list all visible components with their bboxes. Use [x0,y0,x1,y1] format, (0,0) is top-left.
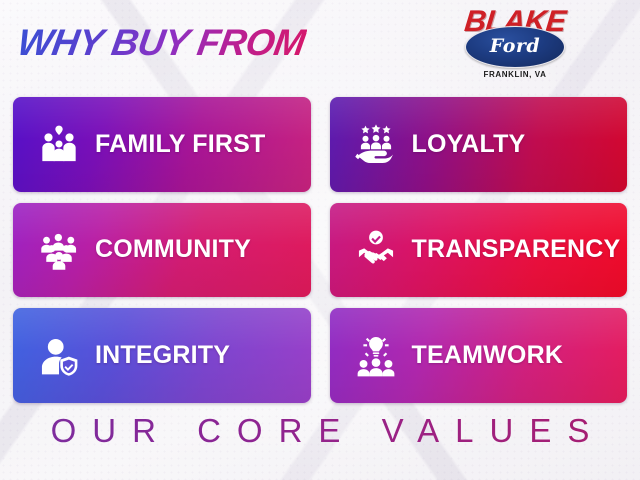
value-card-label: LOYALTY [412,130,526,159]
value-card-integrity[interactable]: INTEGRITY [13,308,311,403]
value-card-community[interactable]: COMMUNITY [13,203,311,298]
footer-tagline: OUR CORE VALUES [0,412,640,450]
page-title: WHY BUY FROM [15,22,308,64]
value-card-family-first[interactable]: FAMILY FIRST [13,97,311,192]
logo-location-text: FRANKLIN, VA [440,70,590,79]
value-card-transparency[interactable]: TRANSPARENCY [330,203,628,298]
value-card-label: INTEGRITY [95,341,230,370]
people-group-icon [37,228,81,272]
hand-stars-icon [354,122,398,166]
family-icon [37,122,81,166]
person-shield-icon [37,334,81,378]
header: WHY BUY FROM BLAKE Ford FRANKLIN, VA [0,0,640,92]
value-card-label: TEAMWORK [412,341,564,370]
dealer-logo: BLAKE Ford FRANKLIN, VA [440,6,590,86]
value-card-loyalty[interactable]: LOYALTY [330,97,628,192]
value-card-label: COMMUNITY [95,235,251,264]
ford-oval-icon: Ford [465,26,565,68]
value-card-teamwork[interactable]: TEAMWORK [330,308,628,403]
lightbulb-team-icon [354,334,398,378]
logo-ford-script: Ford [466,27,564,67]
value-card-label: FAMILY FIRST [95,130,265,159]
handshake-check-icon [354,228,398,272]
core-values-grid: FAMILY FIRST LOYALTY [13,97,627,403]
value-card-label: TRANSPARENCY [412,235,621,264]
